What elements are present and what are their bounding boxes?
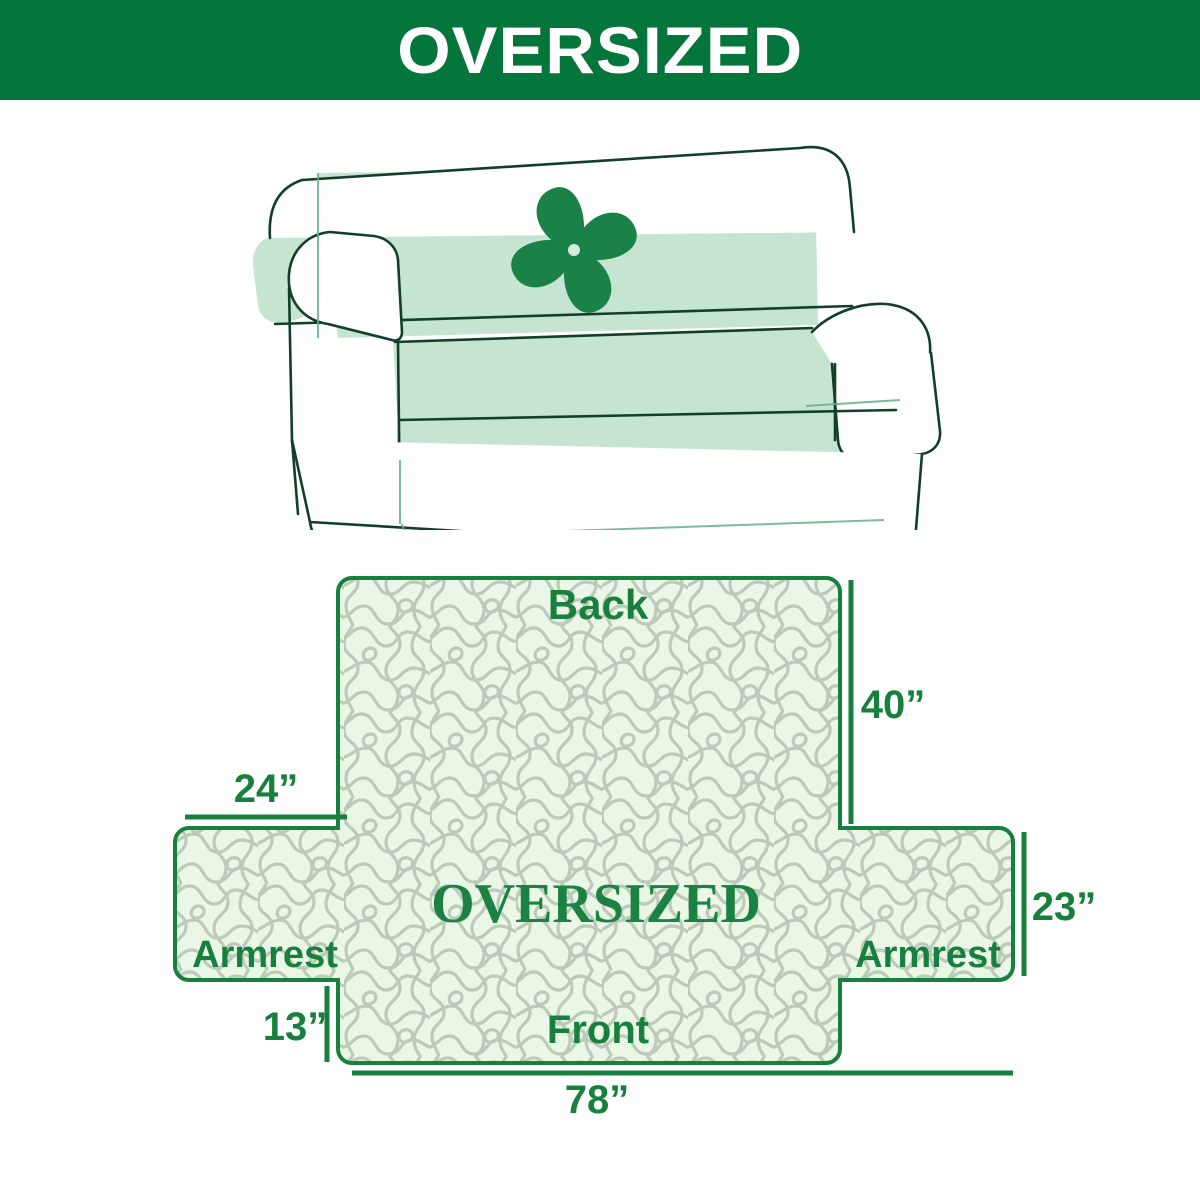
panel-label-left-armrest: Armrest — [192, 934, 338, 976]
panel-label-right-armrest: Armrest — [855, 934, 1001, 976]
dimension-label-13: 13” — [263, 1005, 328, 1049]
size-diagram: 24” 40” 23” 13” 78” Back Armrest Armrest… — [0, 540, 1200, 1200]
dimension-label-40: 40” — [861, 683, 926, 727]
center-size-label: OVERSIZED — [431, 873, 761, 935]
panel-label-front: Front — [547, 1008, 649, 1052]
dimension-label-78: 78” — [565, 1078, 630, 1122]
panel-label-back: Back — [548, 581, 649, 628]
page-title: OVERSIZED — [397, 17, 803, 83]
sofa-illustration — [0, 110, 1200, 530]
dimension-label-23: 23” — [1032, 885, 1097, 929]
dimension-label-24: 24” — [234, 767, 299, 811]
header-banner: OVERSIZED — [0, 0, 1200, 100]
